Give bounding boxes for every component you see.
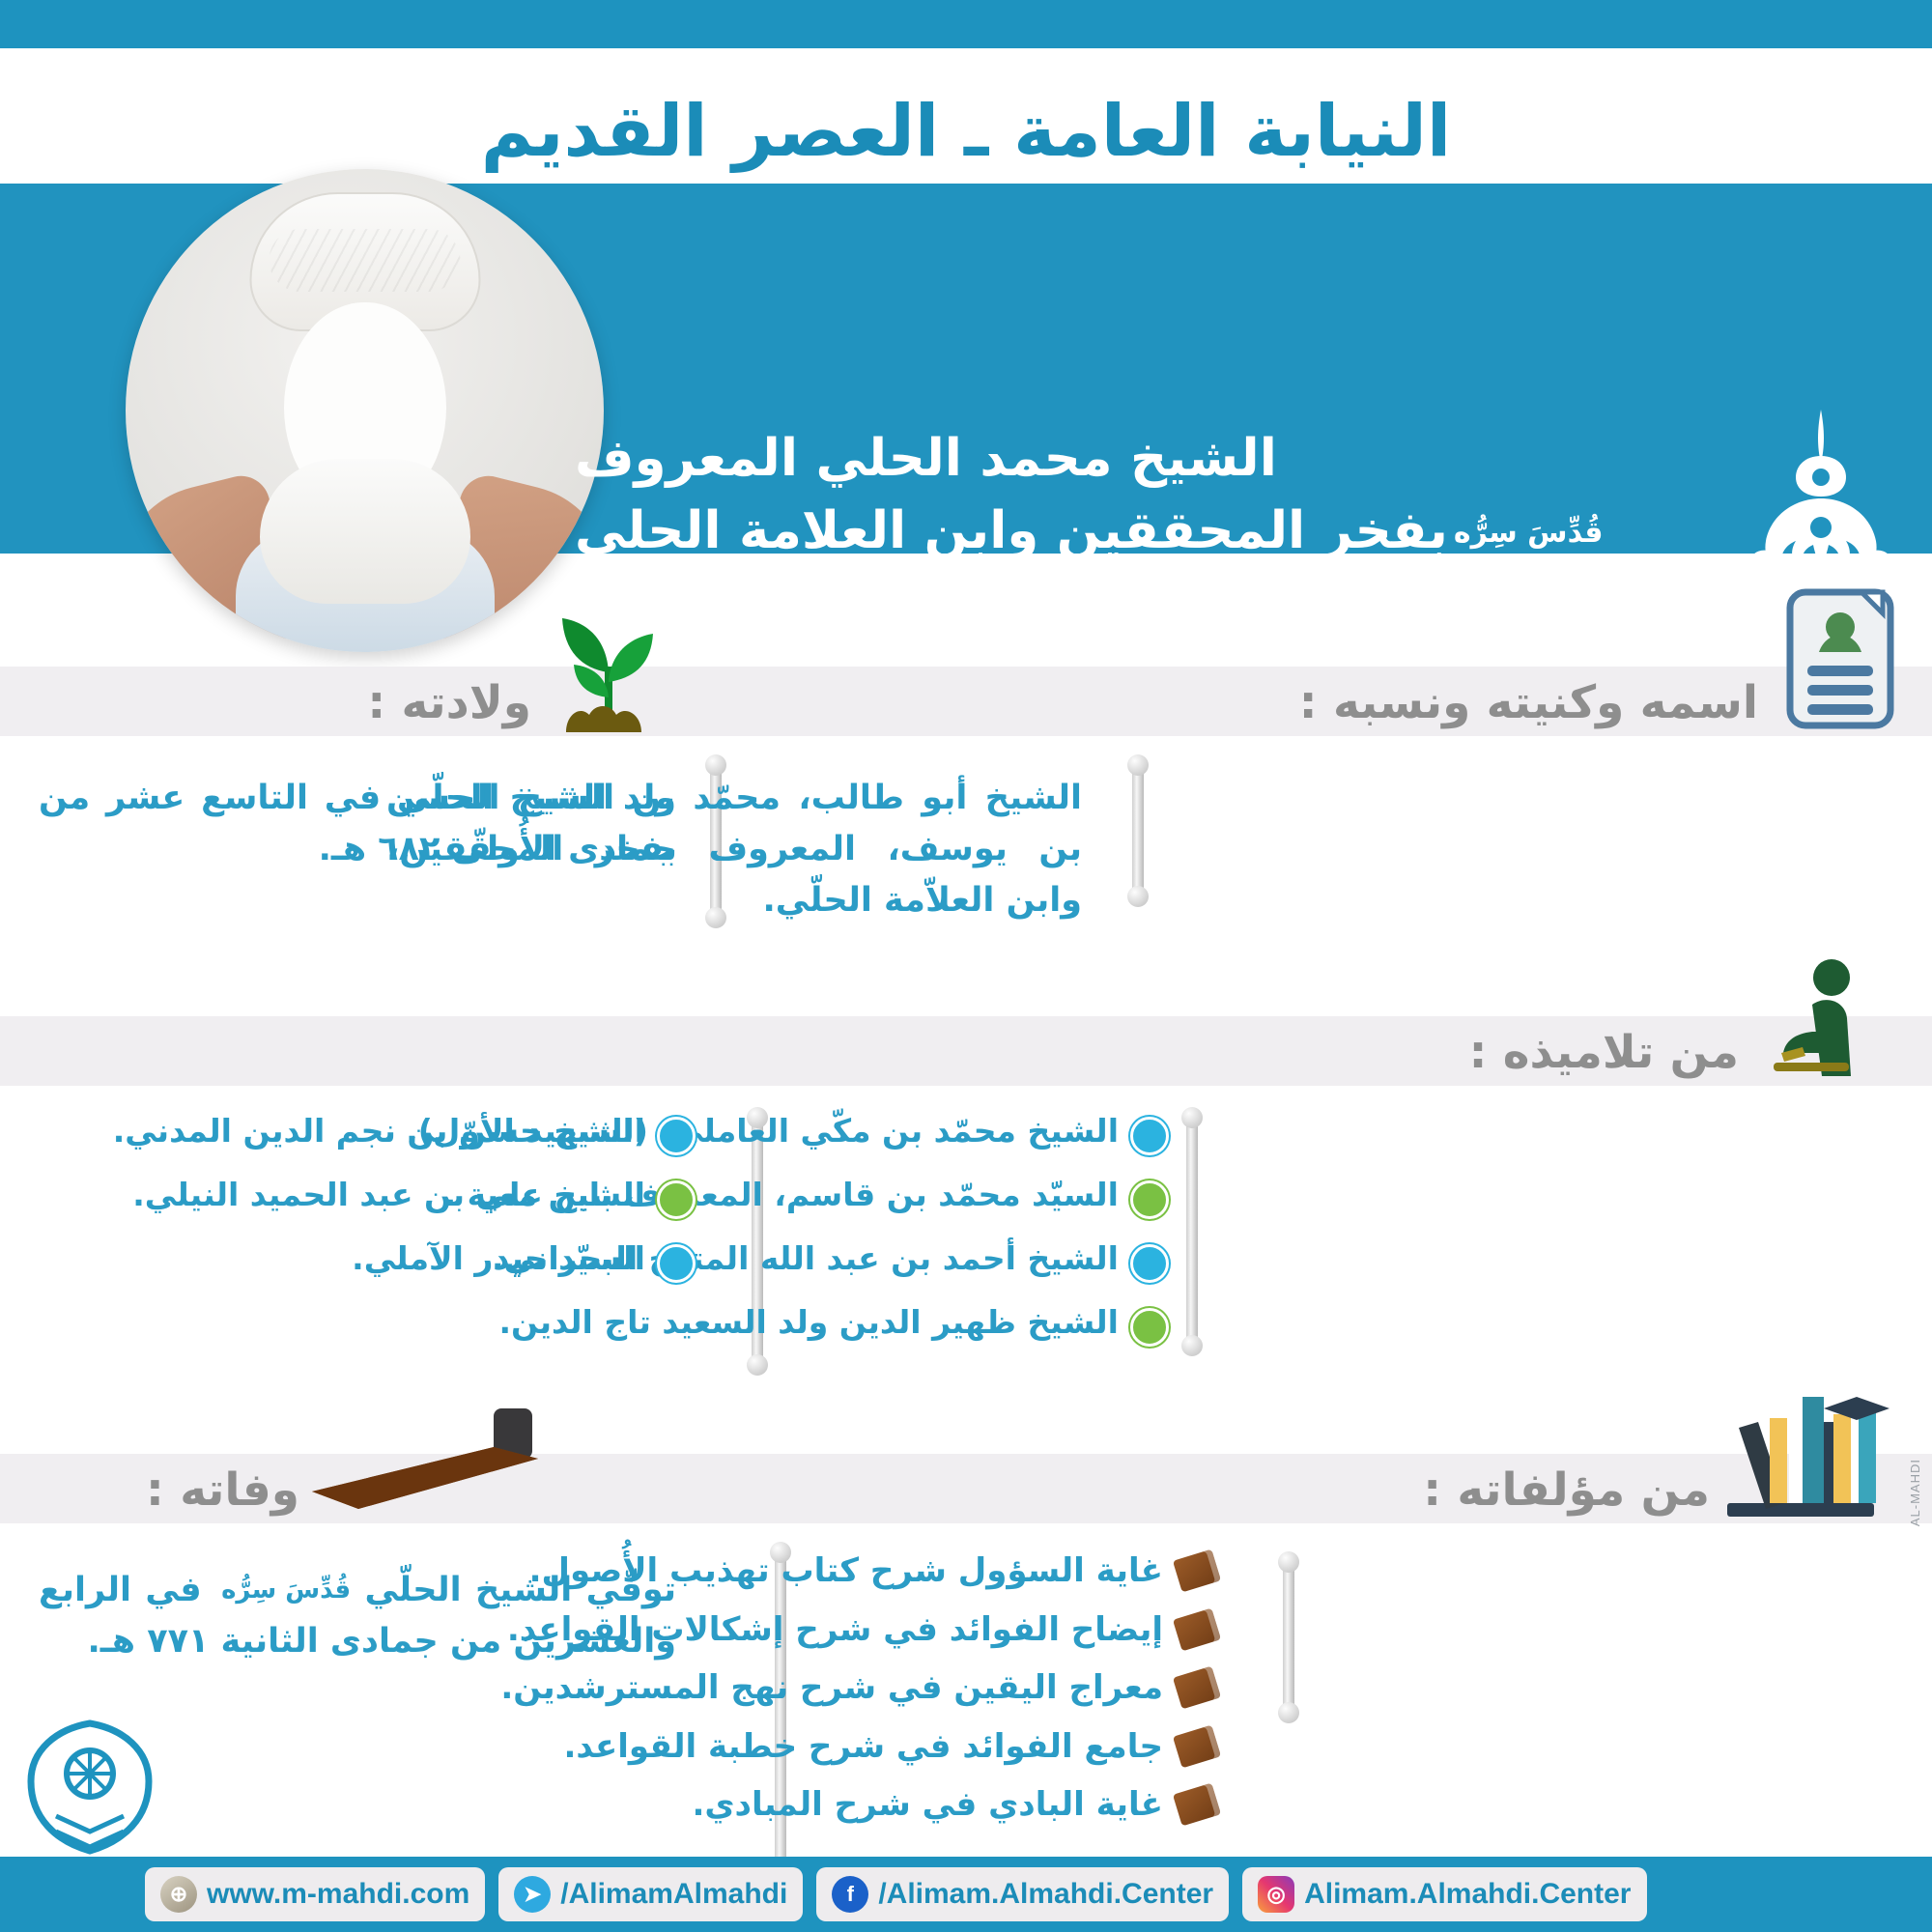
hero-banner: الشيخ محمد الحلي المعروف قُدِّسَ سِرُّهب… — [0, 184, 1932, 554]
death-text-before: توفّي الشيخ الحلّي — [365, 1571, 677, 1609]
section-text-birth: ولد الشيخ الحلّي في التاسع عشر من جمادى … — [39, 773, 676, 875]
telegram-icon: ➤ — [514, 1876, 551, 1913]
list-item: السيّد حيدر الآملي. — [29, 1238, 696, 1283]
title-strip: النيابة العامة ـ العصر القديم — [0, 48, 1932, 184]
list-item: جامع الفوائد في شرح خطبة القواعد. — [193, 1726, 1217, 1768]
book-icon — [1177, 1613, 1217, 1646]
top-accent-bar — [0, 0, 1932, 48]
divider-rod-6 — [1283, 1565, 1294, 1710]
footer-link-label: Alimam.Almahdi.Center — [1304, 1878, 1631, 1911]
infographic-page: النيابة العامة ـ العصر القديم — [0, 0, 1932, 1932]
student-icon — [1748, 956, 1874, 1082]
beard-shape — [260, 459, 470, 604]
work-title: جامع الفوائد في شرح خطبة القواعد. — [563, 1726, 1163, 1768]
instagram-icon: ◎ — [1258, 1876, 1294, 1913]
footer-link-label: /Alimam.Almahdi.Center — [878, 1878, 1213, 1911]
book-icon — [1177, 1671, 1217, 1704]
student-name: الشيخ حسن بن نجم الدين المدني. — [113, 1111, 645, 1151]
section-title-birth: ولادته : — [367, 676, 531, 729]
globe-icon: ⊕ — [160, 1876, 197, 1913]
footer-link-facebook[interactable]: f /Alimam.Almahdi.Center — [816, 1867, 1229, 1921]
id-card-icon — [1782, 586, 1898, 731]
divider-rod-4 — [1186, 1121, 1198, 1343]
section-title-death: وفاته : — [146, 1463, 299, 1517]
student-name: السيّد حيدر الآملي. — [352, 1238, 645, 1278]
footer-link-website[interactable]: ⊕ www.m-mahdi.com — [145, 1867, 485, 1921]
list-item: غاية البادي في شرح المبادي. — [193, 1784, 1217, 1826]
hero-honorific: قُدِّسَ سِرُّه — [1454, 513, 1604, 554]
bookshelf-icon — [1710, 1379, 1893, 1524]
hero-subject-name: الشيخ محمد الحلي المعروف قُدِّسَ سِرُّهب… — [575, 422, 1734, 568]
footer-link-label: /AlimamAlmahdi — [560, 1878, 787, 1911]
bullet-dot-icon — [1130, 1244, 1169, 1283]
students-list-left: الشيخ حسن بن نجم الدين المدني. الشيخ علي… — [29, 1111, 696, 1302]
book-icon — [1177, 1554, 1217, 1587]
work-title: معراج اليقين في شرح نهج المسترشدين. — [500, 1667, 1163, 1709]
almahdi-center-logo — [17, 1719, 162, 1855]
grave-icon — [304, 1391, 546, 1526]
book-icon — [1177, 1730, 1217, 1763]
hero-name-line-1: الشيخ محمد الحلي المعروف — [575, 422, 1734, 495]
bullet-dot-icon — [657, 1180, 696, 1219]
bullet-dot-icon — [657, 1117, 696, 1155]
list-item: الشيخ علي بن عبد الحميد النيلي. — [29, 1175, 696, 1219]
page-title: النيابة العامة ـ العصر القديم — [58, 95, 1874, 170]
side-watermark: AL-MAHDI — [1908, 1459, 1922, 1526]
work-title: غاية البادي في شرح المبادي. — [692, 1784, 1163, 1826]
hero-name-line-2-wrap: قُدِّسَ سِرُّهبفخر المحققين وابن العلامة… — [575, 495, 1734, 567]
student-name: الشيخ علي بن عبد الحميد النيلي. — [132, 1175, 645, 1214]
section-title-students: من تلاميذه : — [1469, 1026, 1739, 1079]
student-name: الشيخ ظهير الدين ولد السعيد تاج الدين. — [498, 1302, 1119, 1342]
portrait-avatar — [126, 169, 604, 652]
section-text-death: توفّي الشيخ الحلّي قُدِّسَ سِرُّه في الر… — [39, 1565, 676, 1667]
facebook-icon: f — [832, 1876, 868, 1913]
list-item: الشيخ حسن بن نجم الدين المدني. — [29, 1111, 696, 1155]
list-item: معراج اليقين في شرح نهج المسترشدين. — [193, 1667, 1217, 1709]
death-honorific: قُدِّسَ سِرُّه — [221, 1572, 351, 1610]
footer-link-telegram[interactable]: ➤ /AlimamAlmahdi — [498, 1867, 803, 1921]
footer-link-instagram[interactable]: ◎ Alimam.Almahdi.Center — [1242, 1867, 1646, 1921]
bullet-dot-icon — [1130, 1117, 1169, 1155]
book-icon — [1177, 1788, 1217, 1821]
section-title-works: من مؤلفاته : — [1423, 1463, 1710, 1517]
divider-rod-2 — [1132, 768, 1144, 894]
section-title-name: اسمه وكنيته ونسبه : — [1299, 676, 1758, 729]
bullet-dot-icon — [1130, 1308, 1169, 1347]
footer-link-label: www.m-mahdi.com — [207, 1878, 469, 1911]
seedling-icon — [531, 589, 686, 734]
bullet-dot-icon — [657, 1244, 696, 1283]
hero-name-line-2: بفخر المحققين وابن العلامة الحلي — [575, 501, 1448, 560]
footer-links: ⊕ www.m-mahdi.com ➤ /AlimamAlmahdi f /Al… — [145, 1866, 1647, 1922]
bullet-dot-icon — [1130, 1180, 1169, 1219]
list-item: الشيخ ظهير الدين ولد السعيد تاج الدين. — [203, 1302, 1169, 1347]
